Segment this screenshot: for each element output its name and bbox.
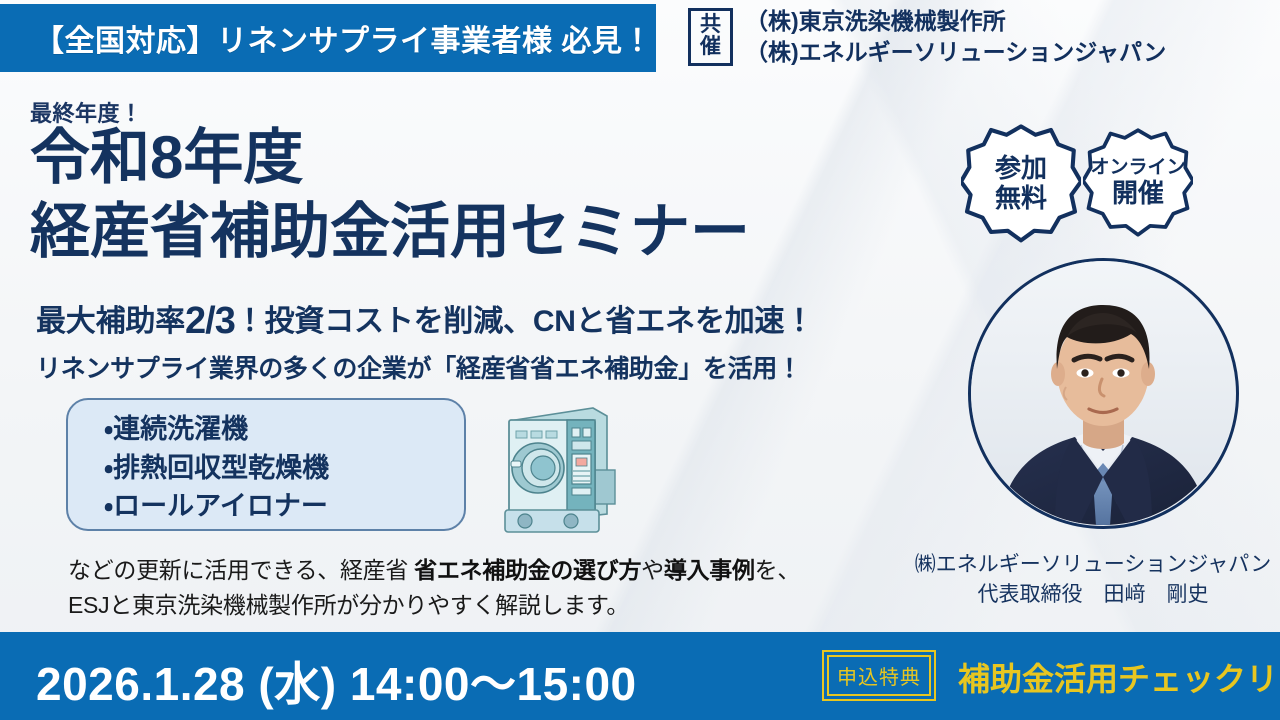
badge-free-participation: 参加 無料 (961, 124, 1081, 244)
lead-line1-a: などの更新に活用できる、経産省 (68, 557, 414, 583)
list-item: ・排熱回収型乾燥機 (104, 449, 464, 488)
avatar (968, 258, 1239, 529)
badge-online-line2: 開催 (1090, 179, 1185, 209)
cohost-label-line1: 共 (695, 14, 726, 37)
washing-machine-icon (497, 398, 621, 538)
subsidy-rate: 2/3 (185, 300, 235, 342)
subtitle-line2: リネンサプライ業界の多くの企業が「経産省省エネ補助金」を活用！ (36, 349, 802, 385)
subtitle-prefix: 最大補助率 (36, 305, 185, 338)
footer-bar: 2026.1.28 (水) 14:00〜15:00 申込特典 補助金活用チェック… (0, 632, 1280, 720)
badge-free-text: 参加 無料 (995, 154, 1047, 213)
bonus-tag-label: 申込特典 (822, 650, 936, 701)
list-item: ・連続洗濯機 (104, 410, 464, 449)
speaker-title-name: 代表取締役 田﨑 剛史 (906, 580, 1280, 610)
cohost-name-1: （株)東京洗染機械製作所 (745, 6, 1166, 37)
lead-line1-c: や (641, 557, 664, 583)
speaker-company: ㈱エネルギーソリューションジャパン (906, 550, 1280, 580)
lead-line1-e: を、 (755, 557, 800, 583)
speaker-caption: ㈱エネルギーソリューションジャパン 代表取締役 田﨑 剛史 (906, 550, 1280, 610)
badge-free-line2: 無料 (995, 184, 1047, 214)
cohost-names: （株)東京洗染機械製作所 （株)エネルギーソリューションジャパン (745, 6, 1166, 68)
lead-line1: などの更新に活用できる、経産省 省エネ補助金の選び方や導入事例を、 (68, 553, 800, 588)
event-datetime: 2026.1.28 (水) 14:00〜15:00 (36, 648, 637, 714)
subtitle-line1: 最大補助率2/3！投資コストを削減、CNと省エネを加速！ (36, 296, 814, 343)
seminar-banner: 【全国対応】リネンサプライ事業者様 必見！ 共 催 （株)東京洗染機械製作所 （… (0, 0, 1280, 720)
subtitle-suffix: ！投資コストを削減、CNと省エネを加速！ (235, 305, 814, 338)
header-banner-text: 【全国対応】リネンサプライ事業者様 必見！ (0, 16, 653, 60)
lead-emphasis-1: 省エネ補助金の選び方 (414, 557, 641, 583)
page-title-line2: 経産省補助金活用セミナー (30, 202, 750, 262)
lead-line2: ESJと東京洗染機械製作所が分かりやすく解説します。 (68, 588, 800, 623)
list-item: ・ロールアイロナー (104, 487, 464, 526)
cohost-block: 共 催 （株)東京洗染機械製作所 （株)エネルギーソリューションジャパン (688, 6, 1166, 68)
cohost-name-2: （株)エネルギーソリューションジャパン (745, 37, 1166, 68)
equipment-list: ・連続洗濯機 ・排熱回収型乾燥機 ・ロールアイロナー (104, 410, 464, 526)
cohost-label: 共 催 (688, 8, 733, 66)
bonus-description: 補助金活用チェックリスト (958, 654, 1280, 700)
lead-emphasis-2: 導入事例 (664, 557, 755, 583)
speaker-portrait-icon (971, 261, 1236, 526)
badge-online-line1: オンライン (1090, 157, 1185, 179)
header-banner-bar: 【全国対応】リネンサプライ事業者様 必見！ (0, 4, 656, 72)
badge-free-line1: 参加 (995, 154, 1047, 184)
equipment-list-box: ・連続洗濯機 ・排熱回収型乾燥機 ・ロールアイロナー (66, 398, 466, 531)
lead-paragraph: などの更新に活用できる、経産省 省エネ補助金の選び方や導入事例を、 ESJと東京… (68, 553, 800, 623)
cohost-label-line2: 催 (695, 36, 726, 59)
badge-online-held: オンライン 開催 (1083, 128, 1193, 238)
page-title-line1: 令和8年度 (30, 128, 303, 188)
badge-online-text: オンライン 開催 (1090, 157, 1185, 208)
